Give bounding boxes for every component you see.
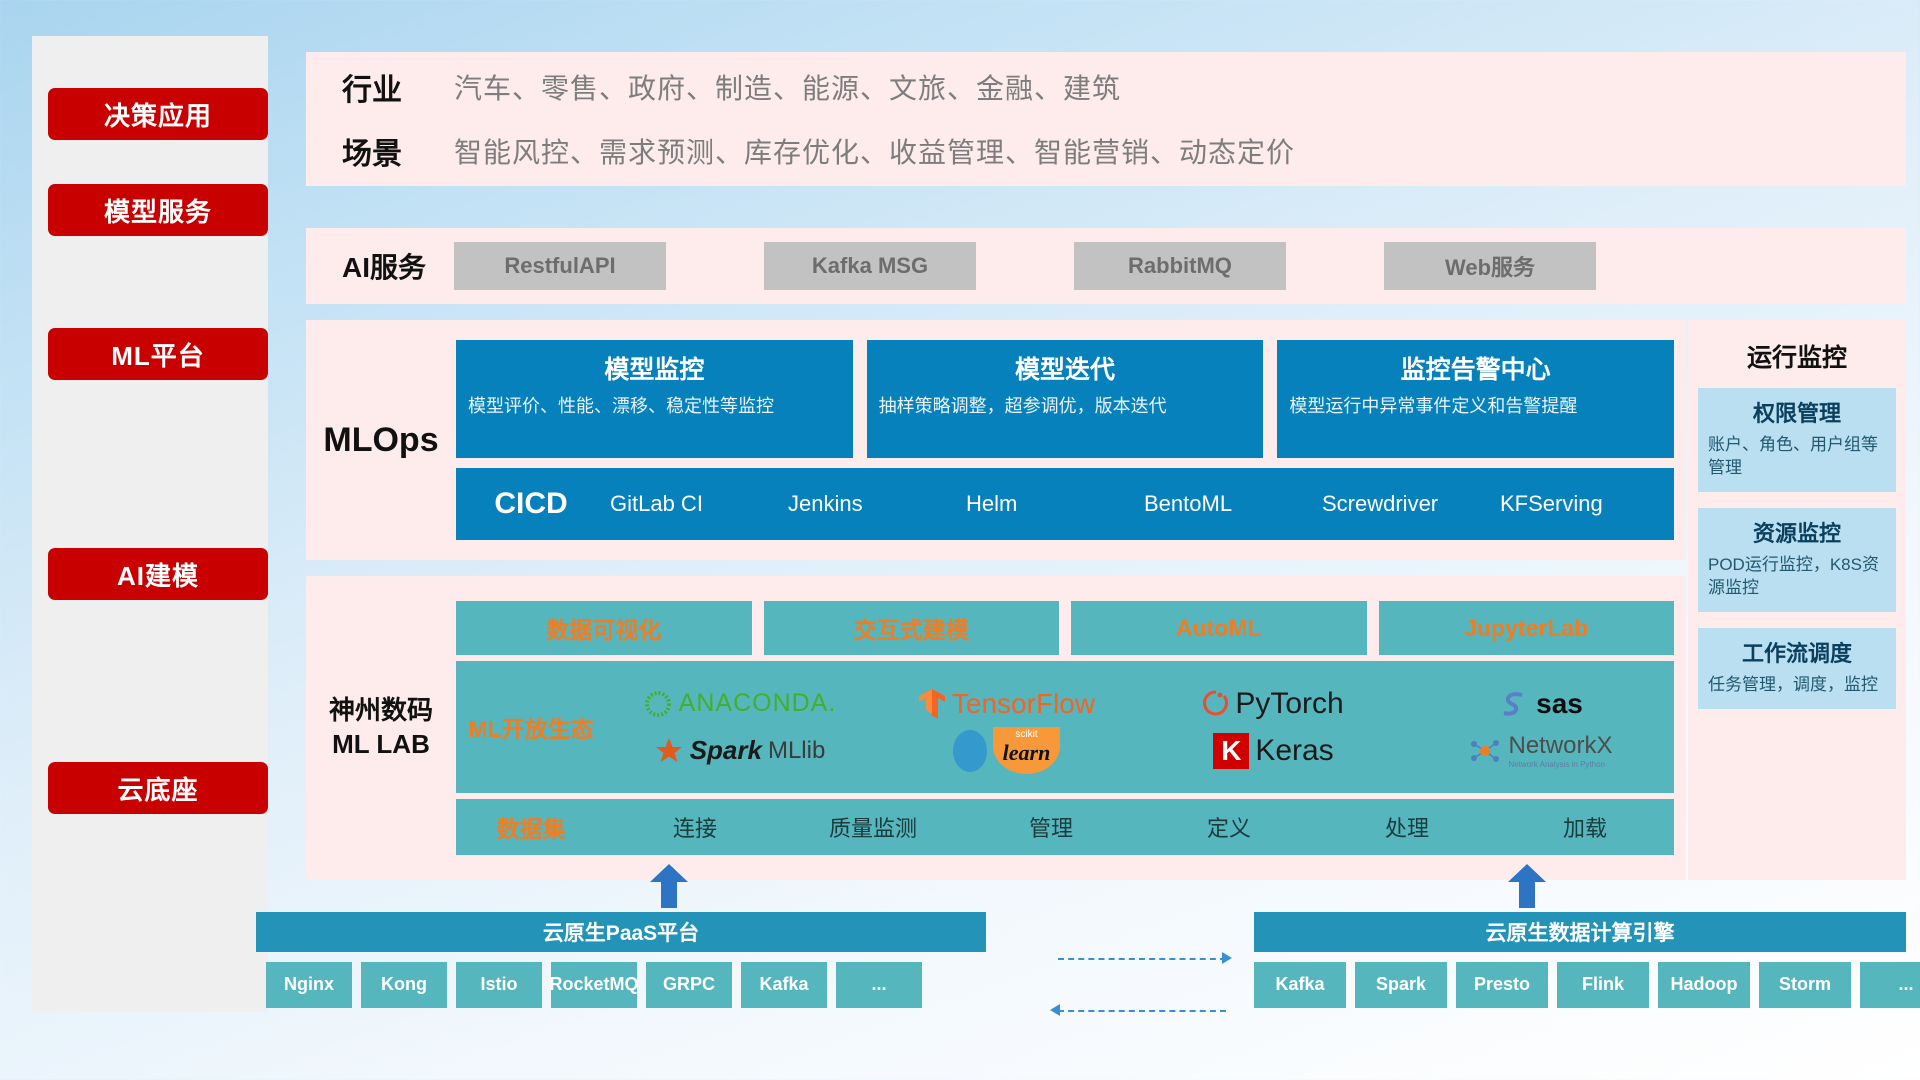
- scikit-learn-text: learn: [1003, 740, 1051, 765]
- dataset-item-quality[interactable]: 质量监测: [784, 811, 962, 843]
- networkx-logo-text-group: NetworkX Network Analysis in Python: [1508, 732, 1612, 769]
- mlops-card-title: 模型迭代: [879, 350, 1252, 386]
- engine-chip-flink[interactable]: Flink: [1557, 962, 1649, 1008]
- runtime-monitor-column: 运行监控 权限管理 账户、角色、用户组等管理 资源监控 POD运行监控，K8S资…: [1688, 320, 1906, 880]
- tensorflow-logo-text: TensorFlow: [952, 688, 1095, 720]
- monitor-card-permissions[interactable]: 权限管理 账户、角色、用户组等管理: [1698, 388, 1896, 492]
- engine-chip-group: Kafka Spark Presto Flink Hadoop Storm ..…: [1254, 962, 1920, 1008]
- paas-chip-group: Nginx Kong Istio RocketMQ GRPC Kafka ...: [266, 962, 922, 1008]
- anaconda-logo-text: ANACONDA.: [679, 689, 837, 718]
- rail-item-ml-platform[interactable]: ML平台: [48, 328, 268, 380]
- up-arrow-icon-paas: [650, 864, 688, 908]
- tensorflow-logo: TensorFlow: [918, 688, 1095, 720]
- ai-service-chip-restfulapi[interactable]: RestfulAPI: [454, 242, 666, 290]
- scikit-learn-top-text: scikit: [1003, 729, 1051, 740]
- engine-chip-storm[interactable]: Storm: [1759, 962, 1851, 1008]
- pytorch-logo-text: PyTorch: [1235, 687, 1343, 721]
- mlops-card-alert-center[interactable]: 监控告警中心 模型运行中异常事件定义和告警提醒: [1277, 340, 1674, 458]
- dashed-connector-left: [1058, 1010, 1226, 1012]
- dataset-label: 数据集: [456, 810, 606, 844]
- tool-jupyterlab[interactable]: JupyterLab: [1379, 601, 1675, 655]
- mllib-logo-text: MLlib: [768, 737, 825, 765]
- cicd-title: CICD: [456, 487, 606, 521]
- rail-item-model-service[interactable]: 模型服务: [48, 184, 268, 236]
- monitor-card-desc: 账户、角色、用户组等管理: [1708, 434, 1886, 480]
- cicd-item-helm[interactable]: Helm: [962, 491, 1140, 516]
- networkx-logo-text: NetworkX: [1508, 732, 1612, 759]
- ai-modeling-band: 神州数码 ML LAB 数据可视化 交互式建模 AutoML JupyterLa…: [306, 576, 1686, 880]
- ai-service-chip-web[interactable]: Web服务: [1384, 242, 1596, 290]
- spark-mllib-logo: Spark MLlib: [654, 735, 826, 766]
- mlops-band: MLOps 模型监控 模型评价、性能、漂移、稳定性等监控 模型迭代 抽样策略调整…: [306, 320, 1686, 560]
- dataset-row: 数据集 连接 质量监测 管理 定义 处理 加载: [456, 799, 1674, 855]
- scikit-learn-logo: scikit learn: [953, 727, 1061, 774]
- dataset-item-load[interactable]: 加载: [1496, 811, 1674, 843]
- mlops-card-model-monitoring[interactable]: 模型监控 模型评价、性能、漂移、稳定性等监控: [456, 340, 853, 458]
- scikit-learn-blob: [953, 730, 987, 772]
- dataset-item-define[interactable]: 定义: [1140, 811, 1318, 843]
- engine-chip-spark[interactable]: Spark: [1355, 962, 1447, 1008]
- ml-lab-label-line1: 神州数码: [306, 694, 456, 728]
- ml-open-ecosystem-panel: ML开放生态 ANACONDA. TensorFlow PyTorch: [456, 661, 1674, 793]
- ml-lab-label-line2: ML LAB: [306, 728, 456, 762]
- arrow-stem: [661, 878, 677, 908]
- engine-chip-kafka[interactable]: Kafka: [1254, 962, 1346, 1008]
- sas-logo-text: sas: [1536, 688, 1583, 720]
- monitor-card-title: 权限管理: [1708, 396, 1886, 428]
- tool-data-visualization[interactable]: 数据可视化: [456, 601, 752, 655]
- industry-value: 汽车、零售、政府、制造、能源、文旅、金融、建筑: [454, 67, 1121, 107]
- mlops-card-desc: 抽样策略调整，超参调优，版本迭代: [879, 394, 1252, 418]
- monitor-card-title: 资源监控: [1708, 516, 1886, 548]
- mlops-card-title: 监控告警中心: [1289, 350, 1662, 386]
- dataset-item-connect[interactable]: 连接: [606, 811, 784, 843]
- paas-chip-more[interactable]: ...: [836, 962, 922, 1008]
- ai-service-chip-rabbitmq[interactable]: RabbitMQ: [1074, 242, 1286, 290]
- ml-lab-label: 神州数码 ML LAB: [306, 694, 456, 762]
- spark-logo-text: Spark: [690, 735, 762, 766]
- rail-item-ai-modeling[interactable]: AI建模: [48, 548, 268, 600]
- engine-chip-more[interactable]: ...: [1860, 962, 1920, 1008]
- cicd-bar: CICD GitLab CI Jenkins Helm BentoML Scre…: [456, 468, 1674, 540]
- cicd-item-jenkins[interactable]: Jenkins: [784, 491, 962, 516]
- engine-chip-presto[interactable]: Presto: [1456, 962, 1548, 1008]
- keras-logo: K Keras: [1213, 733, 1333, 769]
- scenario-row: 场景 智能风控、需求预测、库存优化、收益管理、智能营销、动态定价: [342, 129, 1906, 173]
- dashed-connector-right: [1058, 958, 1226, 960]
- mlops-card-desc: 模型运行中异常事件定义和告警提醒: [1289, 394, 1662, 418]
- anaconda-logo: ANACONDA.: [643, 689, 837, 719]
- monitor-card-desc: 任务管理，调度，监控: [1708, 674, 1886, 697]
- data-engine-header: 云原生数据计算引擎: [1254, 912, 1906, 952]
- engine-chip-hadoop[interactable]: Hadoop: [1658, 962, 1750, 1008]
- mlops-card-title: 模型监控: [468, 350, 841, 386]
- cicd-item-kfserving[interactable]: KFServing: [1496, 491, 1674, 516]
- industry-scenario-band: 行业 汽车、零售、政府、制造、能源、文旅、金融、建筑 场景 智能风控、需求预测、…: [306, 52, 1906, 186]
- monitor-card-resources[interactable]: 资源监控 POD运行监控，K8S资源监控: [1698, 508, 1896, 612]
- scenario-value: 智能风控、需求预测、库存优化、收益管理、智能营销、动态定价: [454, 131, 1295, 171]
- cicd-item-gitlab-ci[interactable]: GitLab CI: [606, 491, 784, 516]
- paas-chip-rocketmq[interactable]: RocketMQ: [551, 962, 637, 1008]
- ml-open-ecosystem-label: ML开放生态: [456, 710, 606, 744]
- ai-service-chip-kafka-msg[interactable]: Kafka MSG: [764, 242, 976, 290]
- dashed-arrow-right-icon: [1222, 952, 1232, 964]
- mlops-card-desc: 模型评价、性能、漂移、稳定性等监控: [468, 394, 841, 418]
- paas-chip-kong[interactable]: Kong: [361, 962, 447, 1008]
- mlops-card-model-iteration[interactable]: 模型迭代 抽样策略调整，超参调优，版本迭代: [867, 340, 1264, 458]
- arrow-stem: [1519, 878, 1535, 908]
- networkx-logo-subtext: Network Analysis in Python: [1508, 760, 1612, 769]
- scenario-label: 场景: [342, 129, 454, 173]
- cicd-item-bentoml[interactable]: BentoML: [1140, 491, 1318, 516]
- tool-interactive-modeling[interactable]: 交互式建模: [764, 601, 1060, 655]
- tool-automl[interactable]: AutoML: [1071, 601, 1367, 655]
- up-arrow-icon-engine: [1508, 864, 1546, 908]
- rail-item-cloud-base[interactable]: 云底座: [48, 762, 268, 814]
- runtime-monitor-title: 运行监控: [1698, 338, 1896, 374]
- monitor-card-workflow[interactable]: 工作流调度 任务管理，调度，监控: [1698, 628, 1896, 709]
- paas-chip-istio[interactable]: Istio: [456, 962, 542, 1008]
- ai-service-label: AI服务: [342, 246, 454, 286]
- left-rail-panel: [32, 36, 268, 1012]
- pytorch-logo: PyTorch: [1203, 687, 1343, 721]
- paas-chip-nginx[interactable]: Nginx: [266, 962, 352, 1008]
- mlops-label: MLOps: [306, 421, 456, 460]
- paas-chip-kafka[interactable]: Kafka: [741, 962, 827, 1008]
- paas-chip-grpc[interactable]: GRPC: [646, 962, 732, 1008]
- monitor-card-title: 工作流调度: [1708, 636, 1886, 668]
- paas-platform-header: 云原生PaaS平台: [256, 912, 986, 952]
- networkx-logo: NetworkX Network Analysis in Python: [1468, 732, 1612, 769]
- cicd-item-screwdriver[interactable]: Screwdriver: [1318, 491, 1496, 516]
- industry-label: 行业: [342, 65, 454, 109]
- rail-item-decision-app[interactable]: 决策应用: [48, 88, 268, 140]
- sas-logo: sas: [1498, 688, 1583, 720]
- dataset-item-manage[interactable]: 管理: [962, 811, 1140, 843]
- ai-service-band: AI服务 RestfulAPI Kafka MSG RabbitMQ Web服务: [306, 228, 1906, 304]
- monitor-card-desc: POD运行监控，K8S资源监控: [1708, 554, 1886, 600]
- scikit-learn-badge: scikit learn: [993, 727, 1061, 774]
- industry-row: 行业 汽车、零售、政府、制造、能源、文旅、金融、建筑: [342, 65, 1906, 109]
- keras-logo-text: Keras: [1255, 734, 1333, 768]
- keras-logo-mark: K: [1213, 733, 1249, 769]
- dataset-item-process[interactable]: 处理: [1318, 811, 1496, 843]
- dashed-arrow-left-icon: [1050, 1004, 1060, 1016]
